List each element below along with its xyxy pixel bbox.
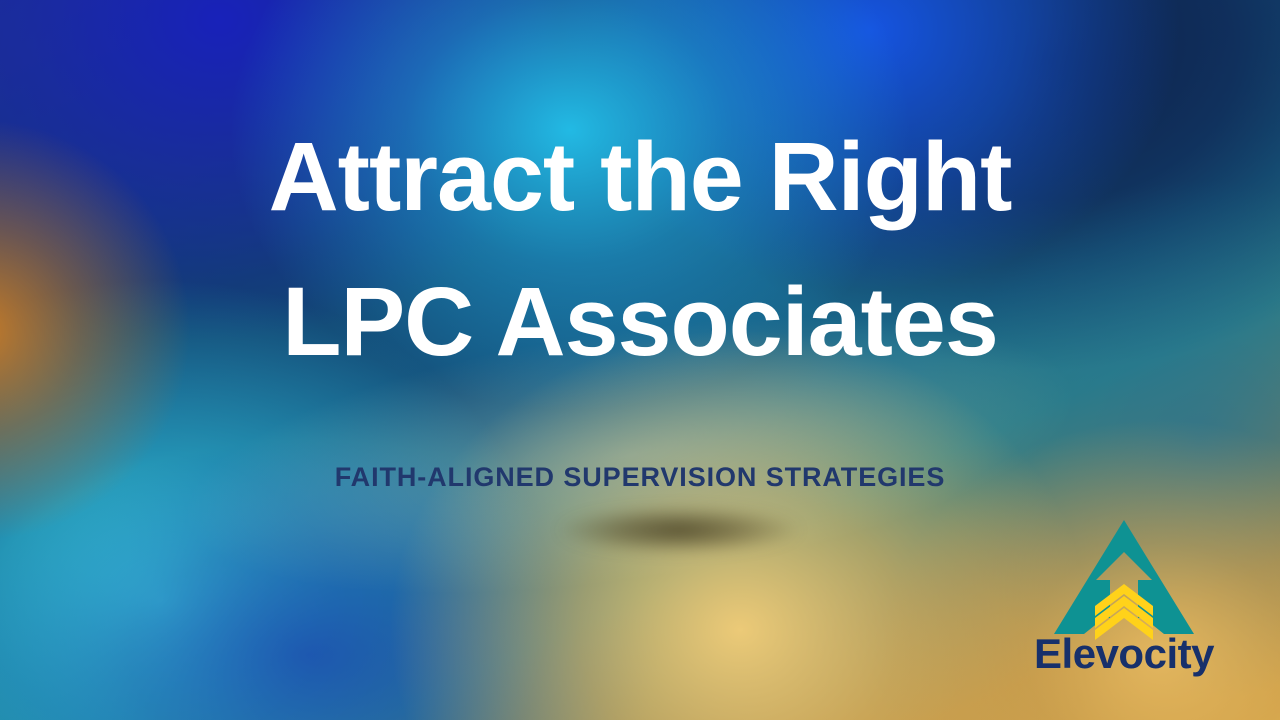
- slide-content: Attract the Right LPC Associates FAITH-A…: [0, 0, 1280, 720]
- title-line-1: Attract the Right: [0, 104, 1280, 249]
- page-title: Attract the Right LPC Associates: [0, 104, 1280, 394]
- elevocity-wordmark: Elevocity: [1024, 630, 1224, 678]
- title-slide: Attract the Right LPC Associates FAITH-A…: [0, 0, 1280, 720]
- title-line-2: LPC Associates: [0, 249, 1280, 394]
- elevocity-arrow-logo-icon: [1052, 518, 1196, 640]
- slide-subtitle: FAITH-ALIGNED SUPERVISION STRATEGIES: [0, 462, 1280, 493]
- elevocity-logo: Elevocity: [1024, 518, 1224, 688]
